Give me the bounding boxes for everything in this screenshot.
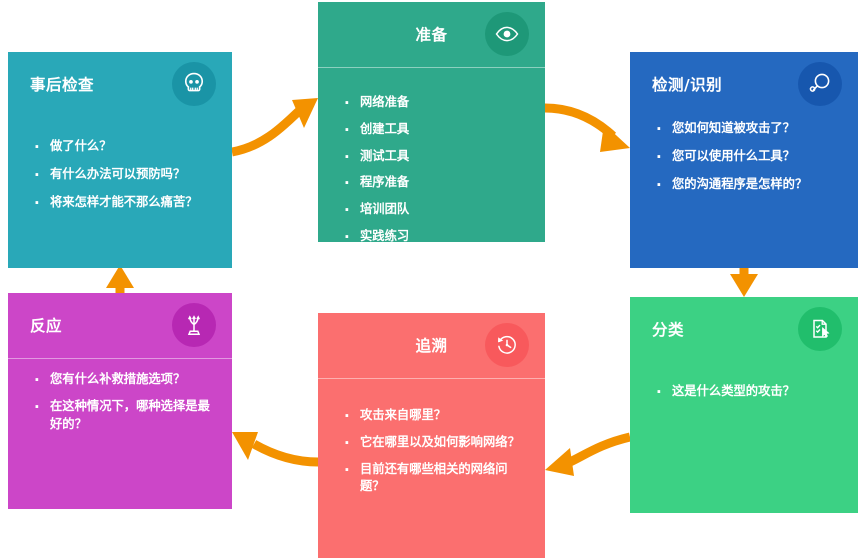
card-classification[interactable]: 分类 这是什么类型的攻击？ bbox=[630, 297, 858, 513]
list-item: 这是什么类型的攻击？ bbox=[652, 383, 844, 401]
card-detection-identification[interactable]: 检测/识别 您如何知道被攻击了？ 您可以使用什么工具？ 您的沟通程序是怎样的？ bbox=[630, 52, 858, 268]
list-item: 网络准备 bbox=[340, 94, 531, 112]
card-post-incident-review[interactable]: 事后检查 做了什么？ 有什么办法可以预防吗？ 将来怎样才能不那么痛苦？ bbox=[8, 52, 232, 268]
arrow-classification-to-trace-head bbox=[545, 448, 574, 476]
list-item: 创建工具 bbox=[340, 121, 531, 139]
list-item: 您的沟通程序是怎样的？ bbox=[652, 176, 844, 194]
sprout-icon bbox=[172, 303, 216, 347]
header-divider bbox=[318, 67, 545, 68]
card-title: 反应 bbox=[30, 314, 62, 336]
card-item-list: 您如何知道被攻击了？ 您可以使用什么工具？ 您的沟通程序是怎样的？ bbox=[652, 120, 844, 203]
card-title: 分类 bbox=[652, 318, 684, 340]
skull-icon bbox=[172, 62, 216, 106]
card-item-list: 您有什么补救措施选项？ 在这种情况下，哪种选择是最好的？ bbox=[30, 371, 218, 442]
arrow-response-to-post-incident-head bbox=[106, 265, 134, 288]
list-item: 有什么办法可以预防吗？ bbox=[30, 166, 218, 184]
list-item: 您如何知道被攻击了？ bbox=[652, 120, 844, 138]
arrow-preparation-to-detection-line bbox=[545, 108, 613, 136]
checklist-cursor-icon bbox=[798, 307, 842, 351]
list-item: 测试工具 bbox=[340, 148, 531, 166]
card-item-list: 攻击来自哪里？ 它在哪里以及如何影响网络？ 目前还有哪些相关的网络问题？ bbox=[340, 407, 531, 505]
header-divider bbox=[318, 378, 545, 379]
card-header: 分类 bbox=[630, 297, 858, 362]
list-item: 将来怎样才能不那么痛苦？ bbox=[30, 194, 218, 212]
card-header: 准备 bbox=[318, 2, 545, 67]
card-header: 反应 bbox=[8, 293, 232, 358]
arrow-trace-to-response-head bbox=[232, 432, 258, 460]
card-item-list: 这是什么类型的攻击？ bbox=[652, 383, 844, 410]
card-item-list: 做了什么？ 有什么办法可以预防吗？ 将来怎样才能不那么痛苦？ bbox=[30, 138, 218, 221]
arrow-detection-to-classification-head bbox=[730, 274, 758, 297]
list-item: 您有什么补救措施选项？ bbox=[30, 371, 218, 389]
flowchart-diagram: 事后检查 做了什么？ 有什么办法可以预防吗？ 将来怎样才能不那么痛苦？ 准备 bbox=[0, 0, 865, 560]
list-item: 实践练习 bbox=[340, 228, 531, 246]
list-item: 攻击来自哪里？ bbox=[340, 407, 531, 425]
list-item: 培训团队 bbox=[340, 201, 531, 219]
list-item: 它在哪里以及如何影响网络？ bbox=[340, 434, 531, 452]
eye-icon bbox=[485, 12, 529, 56]
arrow-classification-to-trace-line bbox=[570, 437, 630, 462]
card-header: 追溯 bbox=[318, 313, 545, 378]
arrow-post-incident-to-preparation-line bbox=[232, 110, 300, 152]
list-item: 程序准备 bbox=[340, 174, 531, 192]
header-divider bbox=[8, 358, 232, 359]
card-trace[interactable]: 追溯 攻击来自哪里？ 它在哪里以及如何影响网络？ 目前还有哪些相关的网络问题？ bbox=[318, 313, 545, 558]
card-title: 检测/识别 bbox=[652, 73, 722, 95]
list-item: 做了什么？ bbox=[30, 138, 218, 156]
card-response[interactable]: 反应 您有什么补救措施选项？ 在这种情况下，哪种选择是最好的？ bbox=[8, 293, 232, 509]
card-header: 事后检查 bbox=[8, 52, 232, 117]
arrow-trace-to-response-line bbox=[254, 444, 318, 462]
rewind-clock-icon bbox=[485, 323, 529, 367]
card-title: 事后检查 bbox=[30, 73, 94, 95]
list-item: 目前还有哪些相关的网络问题？ bbox=[340, 461, 531, 497]
list-item: 您可以使用什么工具？ bbox=[652, 148, 844, 166]
card-header: 检测/识别 bbox=[630, 52, 858, 117]
arrow-post-incident-to-preparation-head bbox=[292, 98, 318, 128]
magnifier-icon bbox=[798, 62, 842, 106]
arrow-preparation-to-detection-head bbox=[600, 124, 630, 152]
card-preparation[interactable]: 准备 网络准备 创建工具 测试工具 程序准备 培训团队 实践练习 bbox=[318, 2, 545, 242]
card-item-list: 网络准备 创建工具 测试工具 程序准备 培训团队 实践练习 bbox=[340, 94, 531, 255]
list-item: 在这种情况下，哪种选择是最好的？ bbox=[30, 398, 218, 434]
